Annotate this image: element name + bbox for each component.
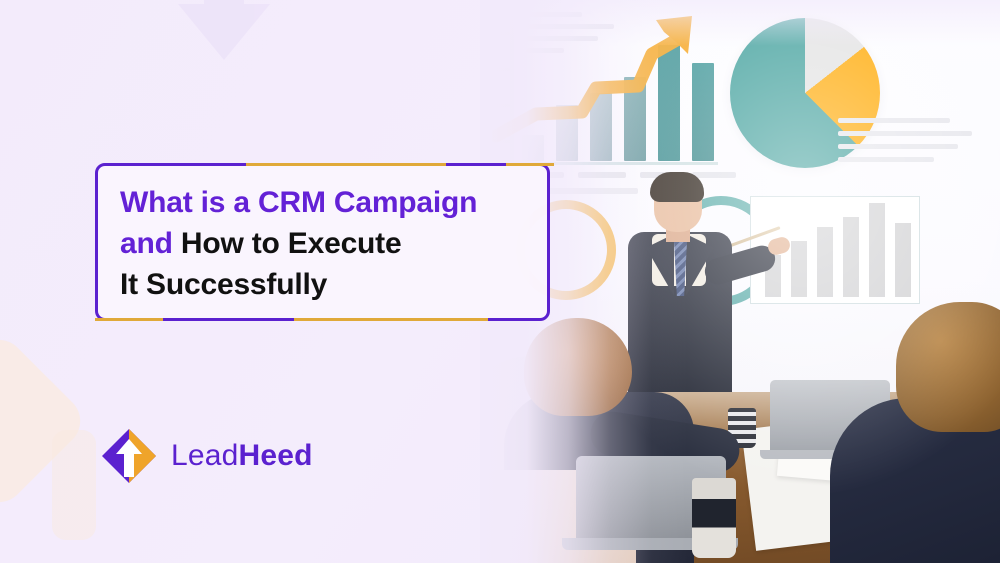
border-accent-segment <box>506 163 554 166</box>
hero-photo <box>480 0 1000 563</box>
title-line-1: What is a CRM Campaign <box>120 186 477 219</box>
wordmark-heed: Heed <box>239 439 313 472</box>
takeaway-coffee-cup <box>692 478 736 558</box>
down-arrow-watermark-icon <box>178 0 270 60</box>
brand-wordmark: LeadHeed <box>171 441 313 471</box>
title-line-2-highlight: and <box>120 227 181 260</box>
wall-placeholder-text <box>838 118 976 170</box>
title-card: What is a CRM Campaign and How to Execut… <box>95 163 550 321</box>
wordmark-lead: Lead <box>171 439 239 472</box>
title-line-2-rest: How to Execute <box>181 227 402 260</box>
growth-arrow-icon <box>492 8 724 186</box>
seated-colleague-head <box>524 318 632 416</box>
leadheed-diamond-arrow-icon <box>100 427 158 485</box>
title-line-3: It Successfully <box>120 268 327 301</box>
growth-bar-chart <box>488 6 718 182</box>
blog-hero-banner: What is a CRM Campaign and How to Execut… <box>0 0 1000 563</box>
peach-bar-decoration <box>52 430 96 540</box>
border-accent-segment <box>95 318 163 321</box>
page-title: What is a CRM Campaign and How to Execut… <box>120 182 531 305</box>
brand-logo[interactable]: LeadHeed <box>100 427 313 485</box>
border-accent-segment <box>294 318 488 321</box>
border-accent-segment <box>246 163 446 166</box>
